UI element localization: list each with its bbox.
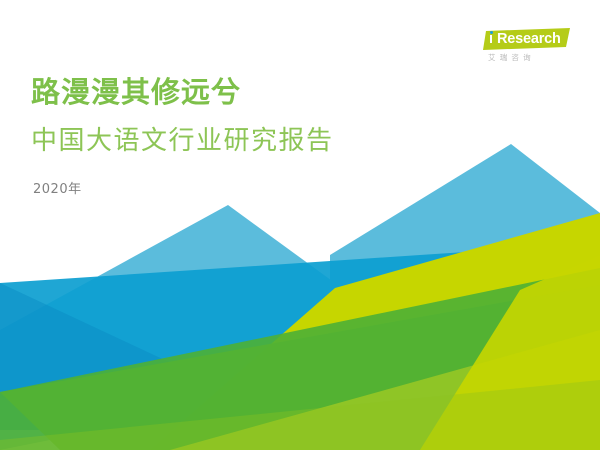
publication-year: 2020年 bbox=[33, 181, 491, 199]
report-cover-page: i Research 艾瑞咨询 路漫漫其修远兮 中国大语文行业研究报告 2020… bbox=[0, 0, 600, 450]
page-title: 路漫漫其修远兮 bbox=[31, 72, 491, 112]
logo-badge: i Research bbox=[482, 28, 574, 51]
page-subtitle: 中国大语文行业研究报告 bbox=[31, 122, 491, 160]
iresearch-logo: i Research 艾瑞咨询 bbox=[482, 28, 574, 70]
logo-wordmark: Research bbox=[497, 29, 561, 49]
cover-title-block: 路漫漫其修远兮 中国大语文行业研究报告 2020年 bbox=[31, 72, 491, 199]
logo-chinese-name: 艾瑞咨询 bbox=[488, 52, 568, 63]
